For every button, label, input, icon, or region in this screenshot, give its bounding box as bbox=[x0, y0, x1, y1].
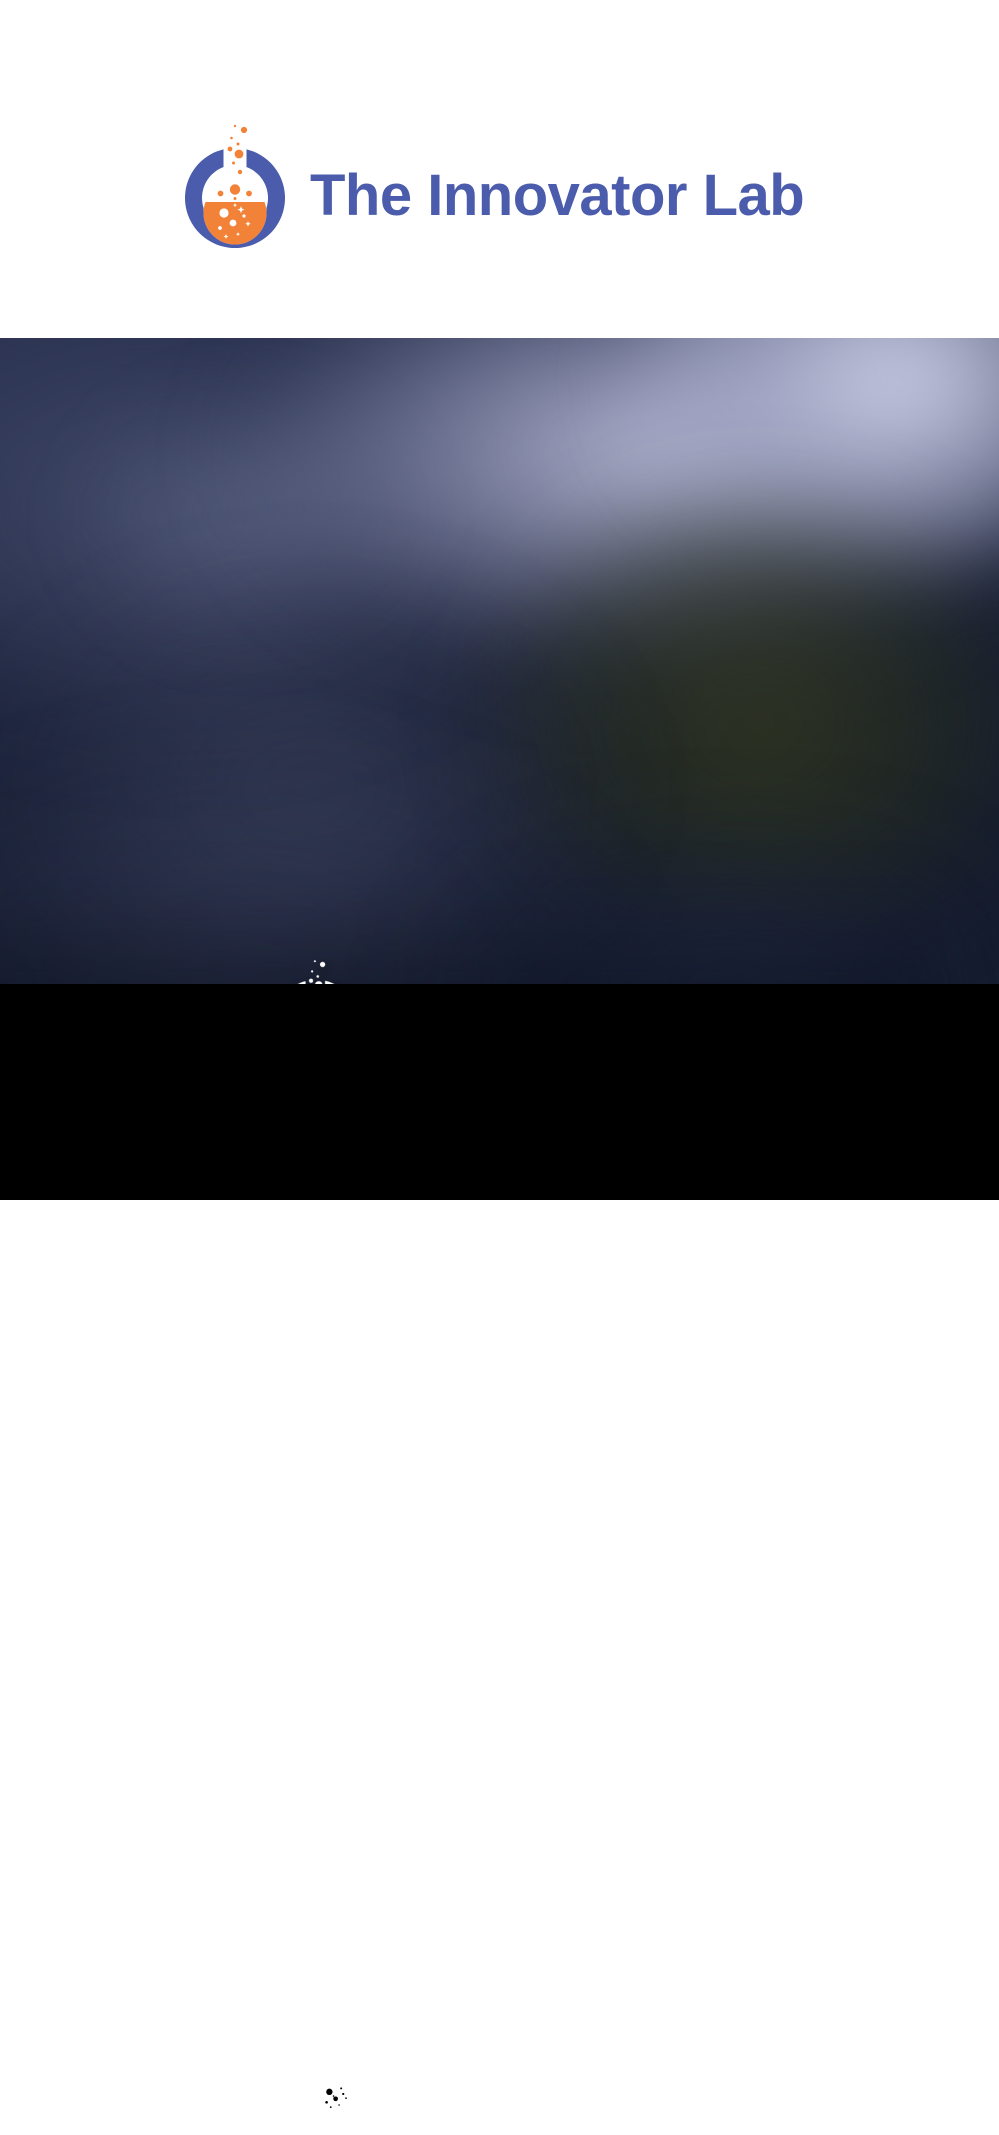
panel-reversed-black: The Innovator Lab bbox=[0, 984, 999, 1200]
panel-primary-light: The Innovator Lab bbox=[0, 0, 999, 338]
blurred-photo-background bbox=[0, 338, 999, 984]
logo-lockup-reversed: The Innovator Lab bbox=[296, 2026, 727, 2135]
wordmark-the-innovator-lab: The Innovator Lab bbox=[389, 2061, 727, 2101]
logo-presentation-board: The Innovator Lab bbox=[0, 0, 999, 1200]
bubbling-flask-in-ring-icon bbox=[176, 118, 294, 273]
logo-lockup-color: The Innovator Lab bbox=[176, 118, 804, 273]
bubbling-flask-in-ring-icon bbox=[265, 953, 368, 984]
wordmark-the-innovator-lab: The Innovator Lab bbox=[310, 167, 804, 225]
panel-photo-mockup: The Innovator Lab bbox=[0, 338, 999, 984]
bubbling-flask-in-ring-icon bbox=[296, 2026, 378, 2135]
